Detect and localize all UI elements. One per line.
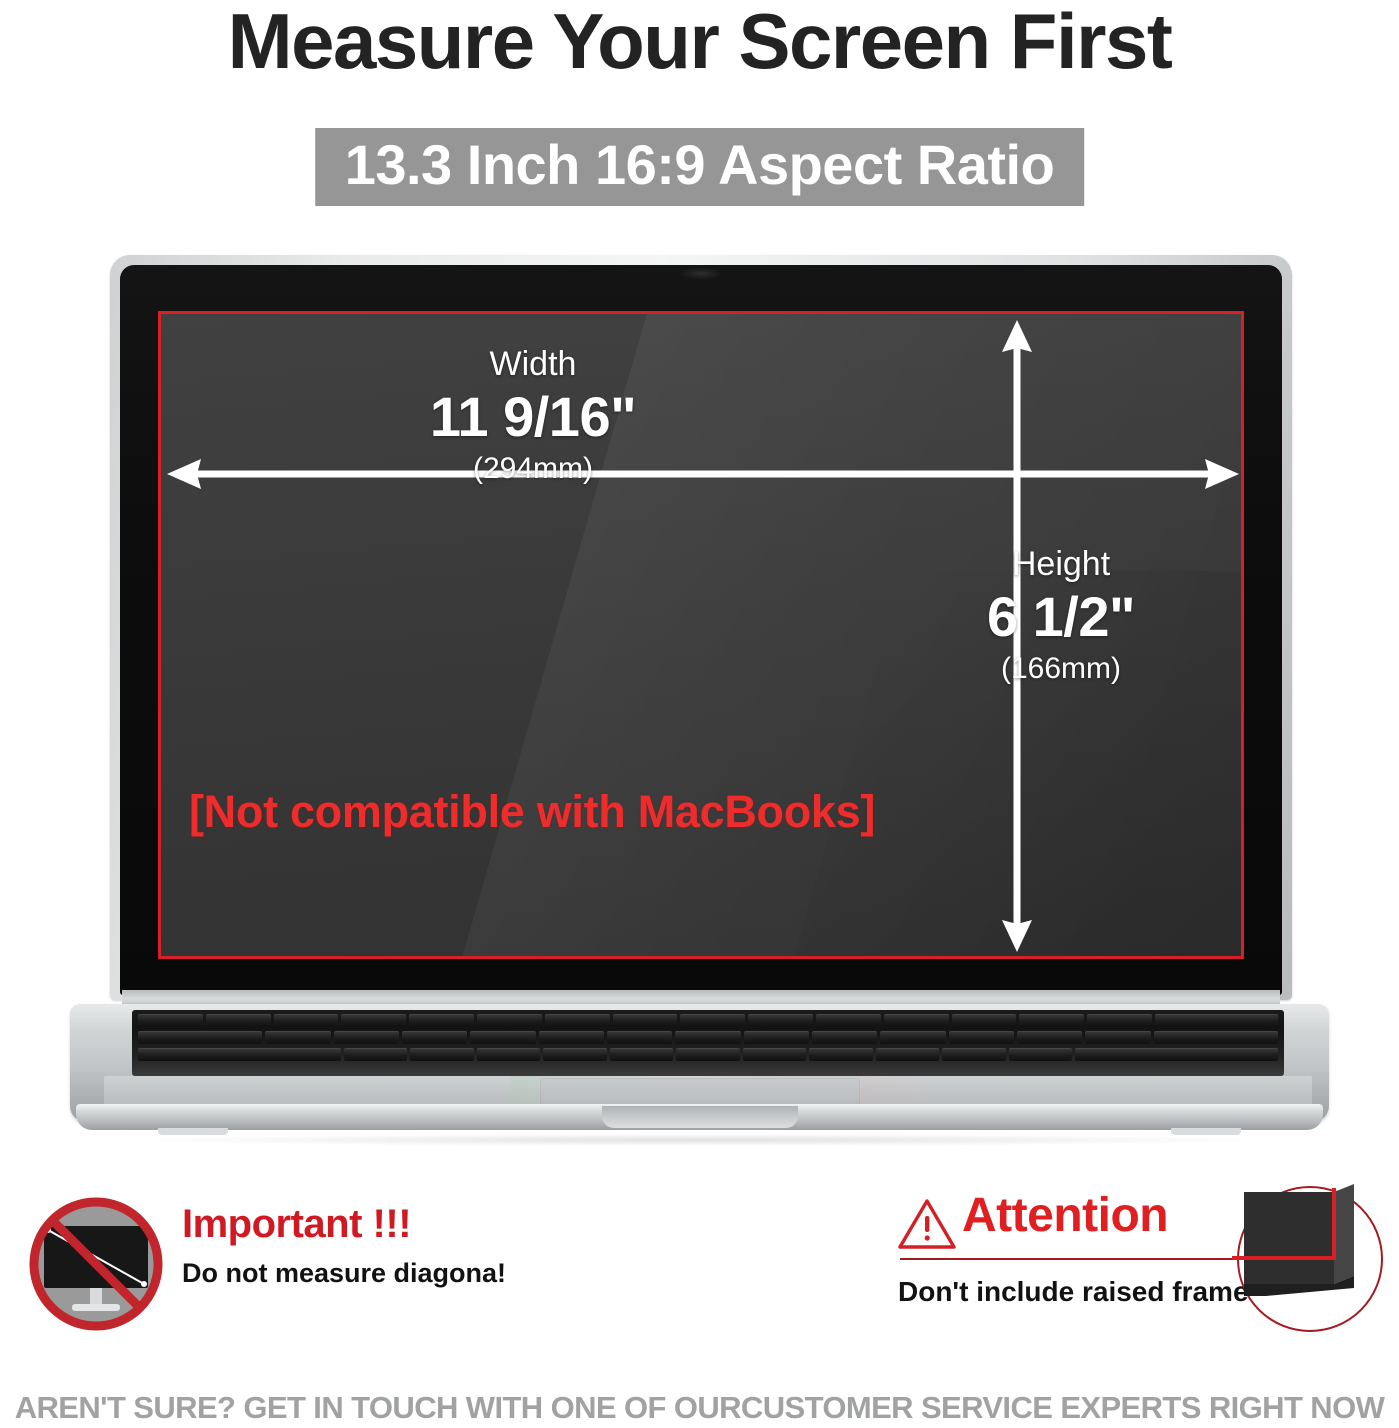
laptop-base (62, 1000, 1337, 1152)
important-text-block: Important !!! Do not measure diagona! (182, 1202, 492, 1289)
key (1154, 1031, 1278, 1044)
screen-measure-outline: Width 11 9/16" (294mm) Height 6 1/2" (16… (158, 311, 1244, 959)
key (138, 1031, 262, 1044)
key (812, 1031, 877, 1044)
attention-divider (900, 1258, 1240, 1260)
key (402, 1031, 467, 1044)
footer: AREN'T SURE? GET IN TOUCH WITH ONE OF OU… (0, 1390, 1399, 1426)
key (265, 1031, 330, 1044)
key (1155, 1014, 1278, 1027)
chassis-open-notch (602, 1106, 798, 1128)
key (1009, 1048, 1072, 1061)
width-measurement-label: Width 11 9/16" (294mm) (363, 344, 703, 488)
attention-heading: Attention (962, 1190, 1168, 1243)
keyboard-row-numbers (132, 1031, 1284, 1044)
laptop-illustration: Width 11 9/16" (294mm) Height 6 1/2" (16… (62, 255, 1337, 1155)
key (1075, 1048, 1278, 1061)
height-value: 6 1/2" (921, 584, 1201, 650)
key (1017, 1031, 1082, 1044)
compatibility-warning: [Not compatible with MacBooks] (189, 786, 875, 838)
key (470, 1031, 535, 1044)
attention-subtext: Don't include raised frame! (898, 1276, 1258, 1308)
key (942, 1048, 1005, 1061)
key (613, 1014, 678, 1027)
key (949, 1031, 1014, 1044)
key (138, 1014, 203, 1027)
key (1087, 1014, 1152, 1027)
important-heading: Important !!! (182, 1202, 492, 1246)
key (409, 1014, 474, 1027)
key (675, 1031, 740, 1044)
key (884, 1014, 949, 1027)
raised-frame-corner-zoom-icon (1230, 1184, 1390, 1334)
footer-cta-text: AREN'T SURE? GET IN TOUCH WITH ONE OF OU… (0, 1390, 1399, 1426)
key (341, 1014, 406, 1027)
key (334, 1031, 399, 1044)
key (477, 1014, 542, 1027)
bottom-notes: Important !!! Do not measure diagona! At… (0, 1180, 1399, 1350)
key (1019, 1014, 1084, 1027)
key (543, 1048, 606, 1061)
height-measurement-label: Height 6 1/2" (166mm) (921, 544, 1201, 688)
key (743, 1048, 806, 1061)
key (477, 1048, 540, 1061)
aspect-ratio-badge: 13.3 Inch 16:9 Aspect Ratio (315, 128, 1085, 206)
key (607, 1031, 672, 1044)
width-caption: Width (363, 344, 703, 384)
keyboard-row-home (132, 1048, 1284, 1061)
keyboard-row-function (132, 1014, 1284, 1027)
important-subtext: Do not measure diagona! (182, 1258, 492, 1289)
key (206, 1014, 271, 1027)
key (138, 1048, 341, 1061)
key (610, 1048, 673, 1061)
key (748, 1014, 813, 1027)
keyboard (132, 1010, 1284, 1076)
header: Measure Your Screen First 13.3 Inch 16:9… (0, 0, 1399, 230)
laptop-lid: Width 11 9/16" (294mm) Height 6 1/2" (16… (110, 255, 1292, 1000)
key (410, 1048, 473, 1061)
warning-triangle-icon (898, 1198, 956, 1250)
key (344, 1048, 407, 1061)
key (539, 1031, 604, 1044)
key (274, 1014, 339, 1027)
key (1085, 1031, 1150, 1044)
laptop-bezel: Width 11 9/16" (294mm) Height 6 1/2" (16… (120, 265, 1282, 995)
page-title: Measure Your Screen First (0, 0, 1399, 85)
no-diagonal-measure-icon (24, 1194, 174, 1334)
key (809, 1048, 872, 1061)
aspect-ratio-badge-label: 13.3 Inch 16:9 Aspect Ratio (345, 135, 1055, 195)
webcam-icon (681, 268, 721, 279)
attention-note: Attention Don't include raised frame! (890, 1184, 1390, 1334)
key (680, 1014, 745, 1027)
drop-shadow (142, 1134, 1257, 1146)
width-metric: (294mm) (363, 450, 703, 488)
key (880, 1031, 945, 1044)
width-value: 11 9/16" (363, 384, 703, 450)
key (952, 1014, 1017, 1027)
important-note: Important !!! Do not measure diagona! (22, 1188, 492, 1333)
key (676, 1048, 739, 1061)
key (744, 1031, 809, 1044)
key (545, 1014, 610, 1027)
height-caption: Height (921, 544, 1201, 584)
key (876, 1048, 939, 1061)
height-metric: (166mm) (921, 650, 1201, 688)
key (816, 1014, 881, 1027)
